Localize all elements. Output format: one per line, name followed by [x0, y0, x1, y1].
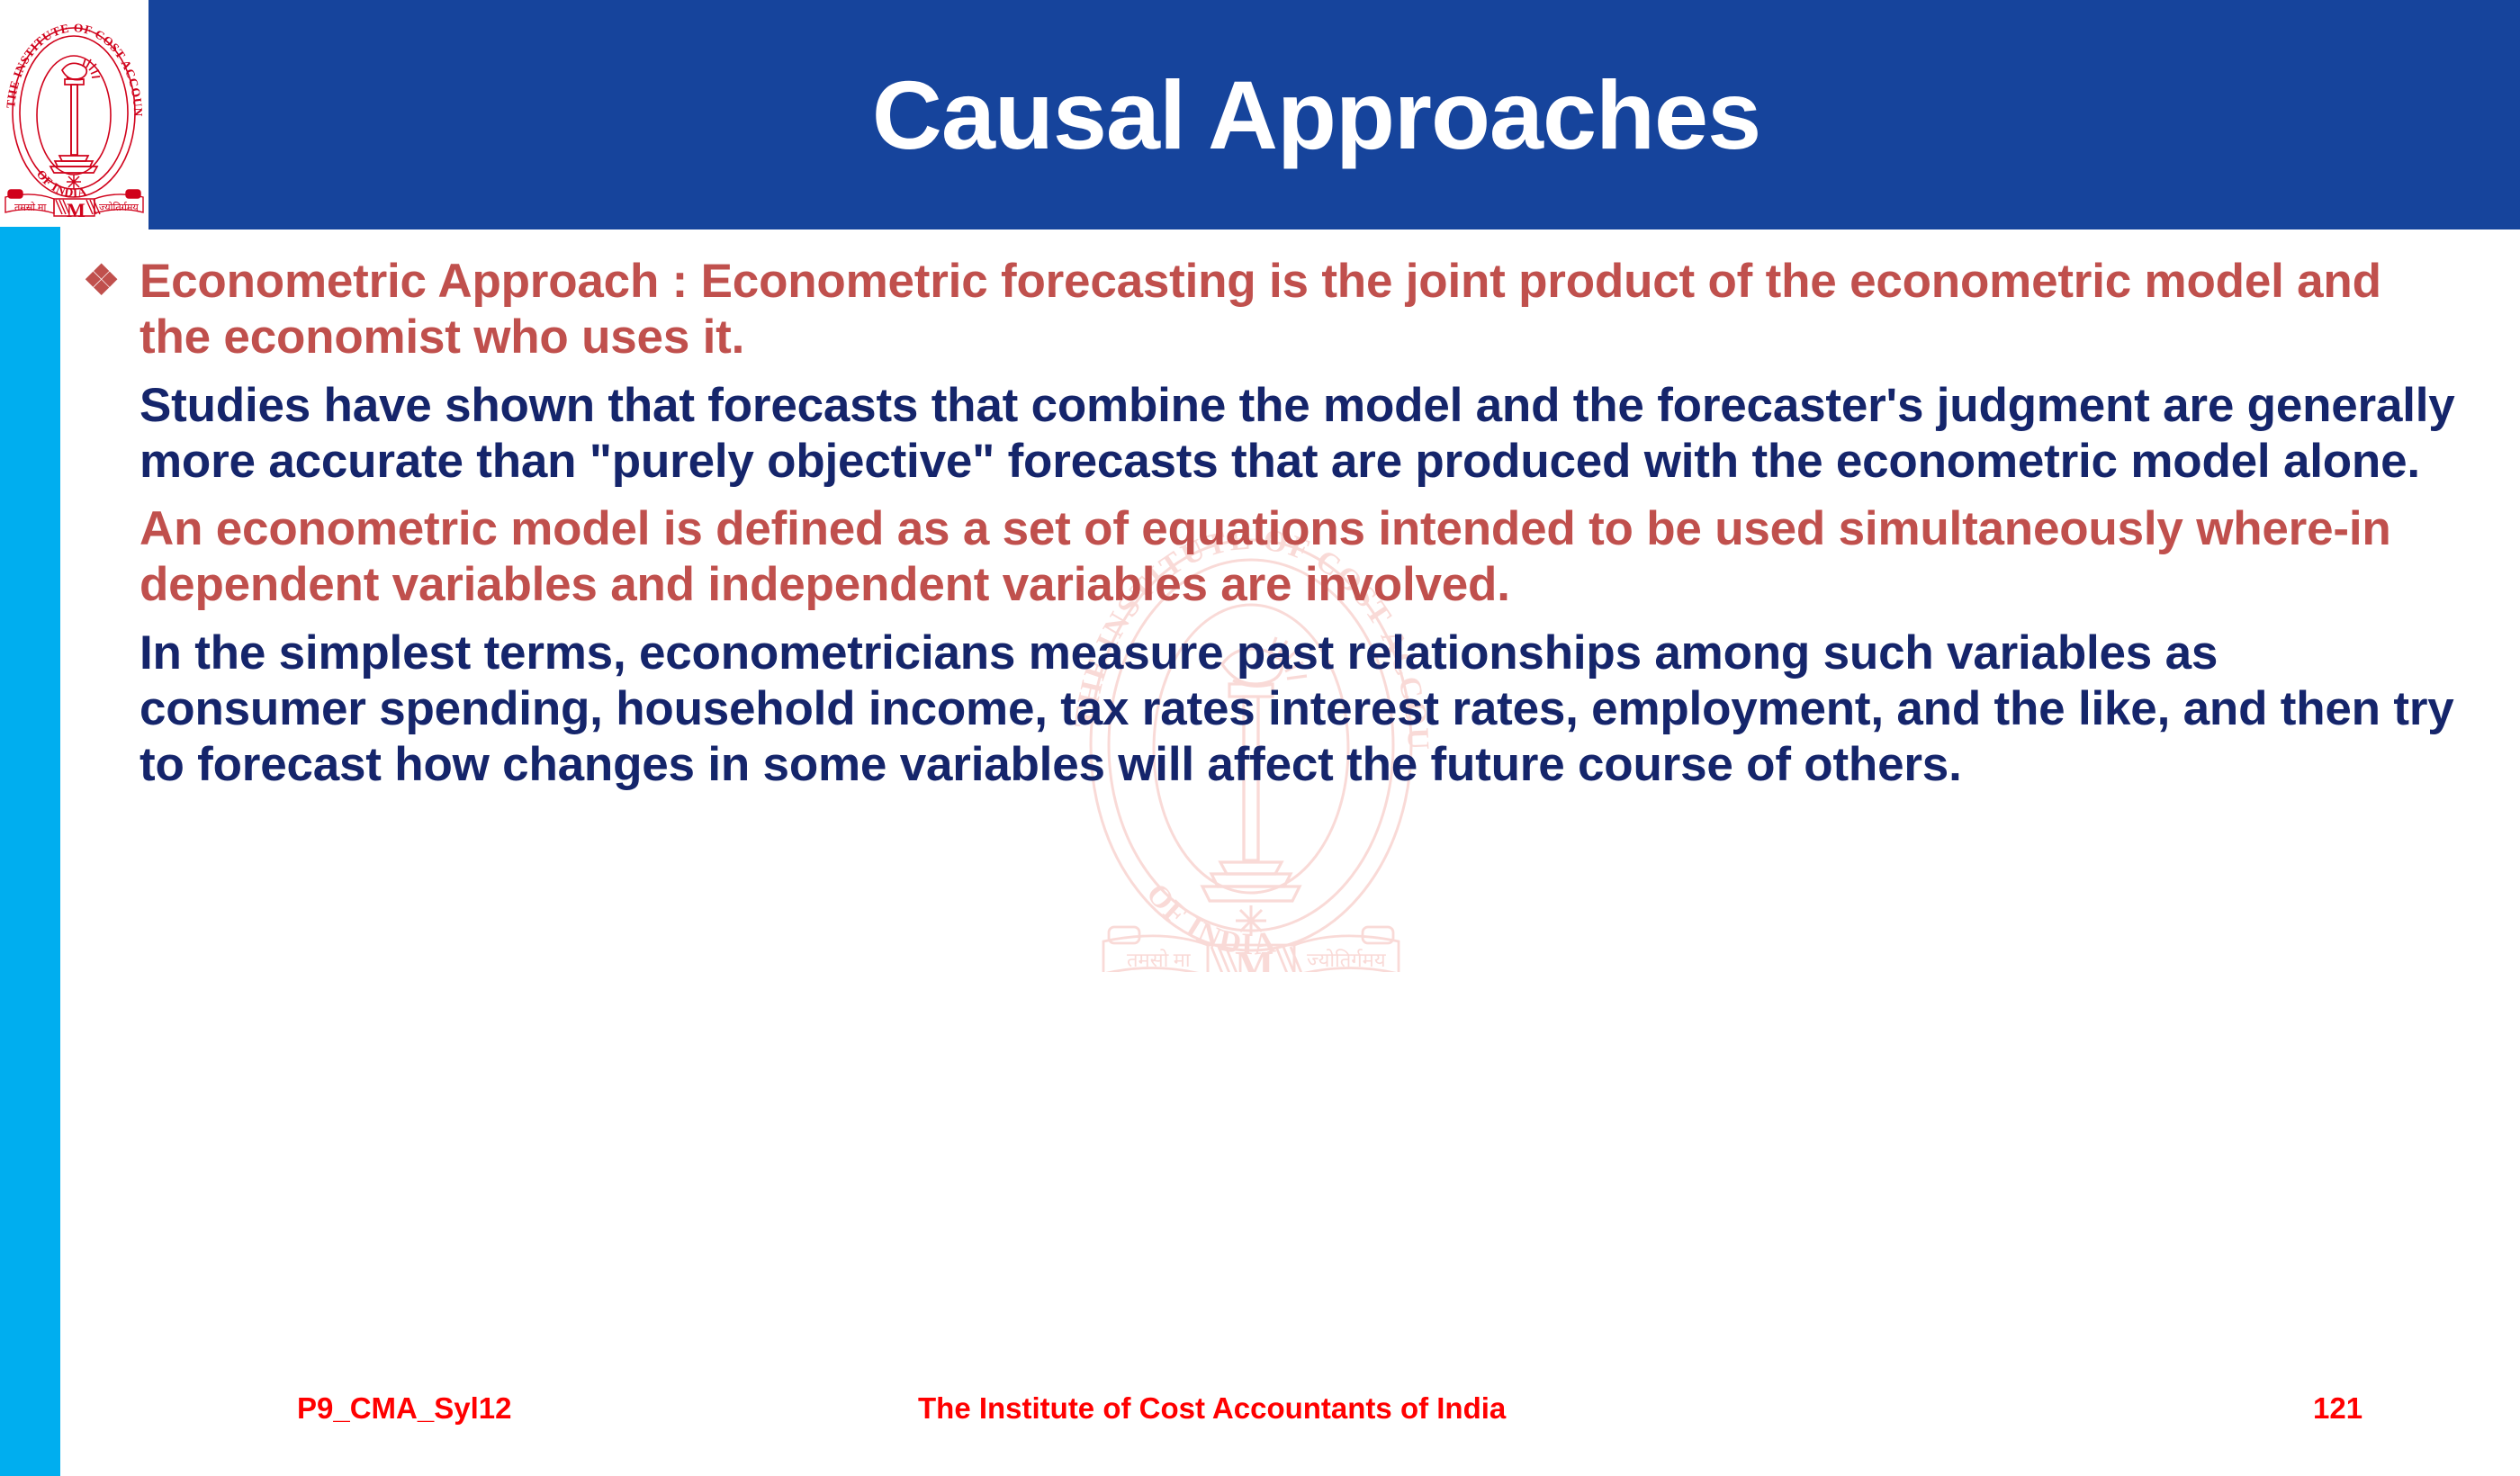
paragraph-text: In the simplest terms, econometricians m… [139, 626, 2454, 792]
title-banner: Causal Approaches [148, 0, 2520, 229]
footer-institute-name: The Institute of Cost Accountants of Ind… [918, 1391, 1506, 1426]
footer-page-number: 121 [2313, 1391, 2362, 1426]
paragraph-text: Econometric Approach : Econometric forec… [139, 255, 2381, 364]
svg-text:ज्योतिर्गमय: ज्योतिर्गमय [99, 202, 139, 213]
paragraph-simplest-terms: In the simplest terms, econometricians m… [72, 625, 2457, 794]
paragraph-text: Studies have shown that forecasts that c… [139, 379, 2455, 488]
left-accent-bar [0, 225, 60, 1476]
paragraph-text: An econometric model is defined as a set… [139, 502, 2391, 611]
svg-text:तमसो मा: तमसो मा [14, 202, 46, 213]
svg-text:THE INSTITUTE OF COST ACCOUNTA: THE INSTITUTE OF COST ACCOUNTANTS [0, 0, 145, 117]
footer-subject-code: P9_CMA_Syl12 [297, 1391, 511, 1426]
slide-footer: P9_CMA_Syl12 The Institute of Cost Accou… [0, 1375, 2520, 1447]
paragraph-econometric-model-definition: An econometric model is defined as a set… [72, 501, 2457, 614]
slide-body: ❖ Econometric Approach : Econometric for… [72, 254, 2457, 1316]
paragraph-studies-have-shown: Studies have shown that forecasts that c… [72, 378, 2457, 490]
institute-logo: THE INSTITUTE OF COST ACCOUNTANTS OF IND… [0, 0, 148, 227]
diamond-bullet-icon: ❖ [83, 256, 120, 305]
paragraph-econometric-approach: ❖ Econometric Approach : Econometric for… [72, 254, 2457, 366]
page-title: Causal Approaches [872, 67, 1796, 164]
slide-canvas: THE INSTITUTE OF COST ACCOUNTANTS OF IND… [0, 0, 2520, 1476]
svg-text:M: M [67, 199, 85, 221]
